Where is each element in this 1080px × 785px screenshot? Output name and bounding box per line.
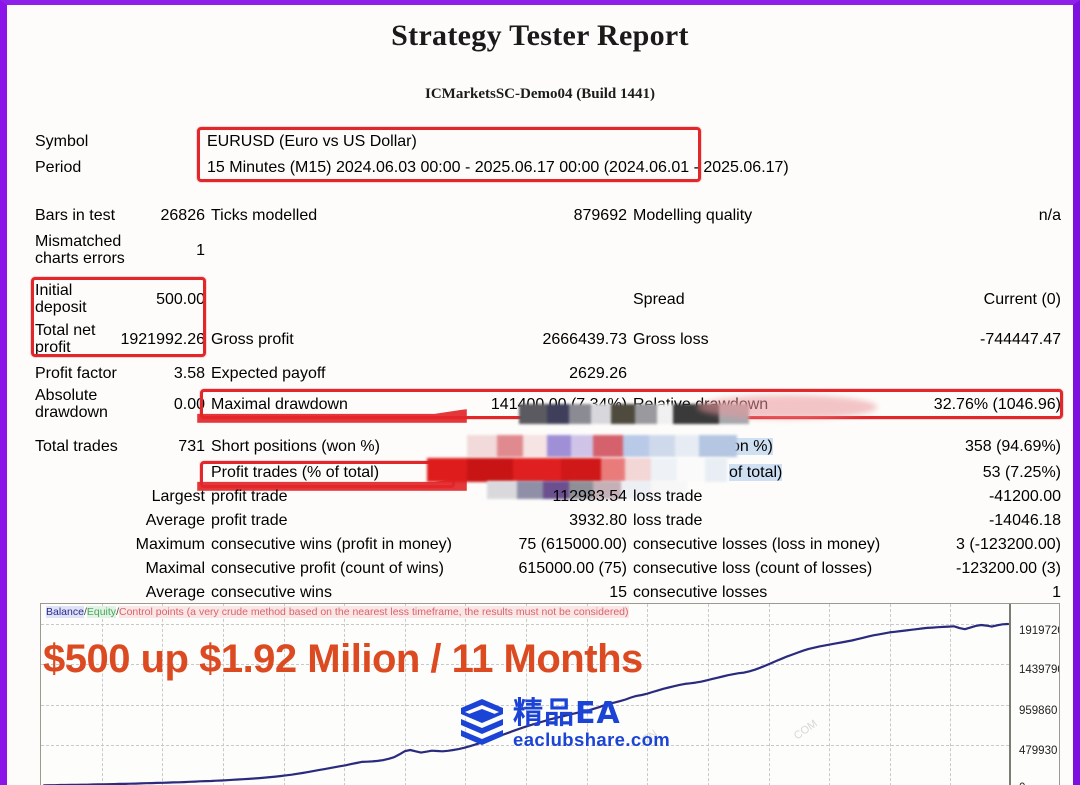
initial-deposit-value: 500.00 — [137, 291, 205, 308]
row-total-trades: Total trades 731 Short positions (won %)… — [7, 438, 1073, 464]
maximal-drawdown-label: Maximal drawdown — [211, 396, 348, 413]
avg-consecutive-losses-value: 1 — [1052, 584, 1061, 601]
y-tick-3: 479930 — [1019, 745, 1057, 757]
initial-deposit-label-line2: deposit — [35, 299, 87, 316]
expected-payoff-value: 2629.26 — [527, 365, 627, 382]
watermark-brand: 精品EA — [513, 699, 670, 729]
largest-profit-label: profit trade — [211, 488, 287, 505]
row-mismatched-charts-errors: Mismatched charts errors 1 — [7, 233, 1073, 275]
row-bars-in-test: Bars in test 26826 Ticks modelled 879692… — [7, 207, 1073, 233]
total-net-profit-value: 1921992.26 — [107, 331, 205, 348]
bars-in-test-label: Bars in test — [35, 207, 115, 224]
total-trades-value: 731 — [137, 438, 205, 455]
legend-control-points: Control points (a very crude method base… — [119, 606, 629, 618]
row-period: Period 15 Minutes (M15) 2024.06.03 00:00… — [7, 159, 1073, 186]
row-drawdown: Absolute drawdown 0.00 Maximal drawdown … — [7, 387, 1073, 429]
symbol-label: Symbol — [35, 133, 88, 150]
relative-drawdown-value: 32.76% (1046.96) — [934, 396, 1061, 413]
row-total-net-profit: Total net profit 1921992.26 Gross profit… — [7, 322, 1073, 364]
profit-trades-label: Profit trades (% of total) — [211, 464, 379, 481]
period-label: Period — [35, 159, 81, 176]
row-symbol: Symbol EURUSD (Euro vs US Dollar) — [7, 133, 1073, 160]
largest-loss-value: -41200.00 — [989, 488, 1061, 505]
long-positions-label: on %) — [731, 438, 773, 455]
largest-label: Largest — [87, 488, 205, 505]
spread-value: Current (0) — [984, 291, 1061, 308]
gross-profit-value: 2666439.73 — [497, 331, 627, 348]
average-loss-label: loss trade — [633, 512, 702, 529]
average-profit-label: profit trade — [211, 512, 287, 529]
maximal-consecutive-loss-value: -123200.00 (3) — [956, 560, 1061, 577]
total-net-profit-label-line1: Total net — [35, 322, 95, 339]
total-net-profit-label-line2: profit — [35, 339, 71, 356]
average-loss-value: -14046.18 — [989, 512, 1061, 529]
relative-drawdown-label: Relative drawdown — [633, 396, 768, 413]
long-positions-value: 358 (94.69%) — [965, 438, 1061, 455]
modelling-quality-value: n/a — [1039, 207, 1061, 224]
largest-loss-label: loss trade — [633, 488, 702, 505]
maximal-consecutive-profit-value: 615000.00 (75) — [477, 560, 627, 577]
maximum-label: Maximum — [87, 536, 205, 553]
short-positions-label: Short positions (won %) — [211, 438, 380, 455]
row-profit-trades: Profit trades (% of total) of total) 53 … — [7, 464, 1073, 490]
ticks-modelled-label: Ticks modelled — [211, 207, 317, 224]
mismatched-label-line1: Mismatched — [35, 233, 121, 250]
watermark: 精品EA eaclubshare.com — [459, 697, 670, 752]
row-largest-trade: Largest profit trade 112983.54 loss trad… — [7, 488, 1073, 514]
max-consecutive-wins-value: 75 (615000.00) — [477, 536, 627, 553]
promo-headline: $500 up $1.92 Milion / 11 Months — [43, 637, 643, 682]
row-initial-deposit: Initial deposit 500.00 Spread Current (0… — [7, 282, 1073, 324]
spread-label: Spread — [633, 291, 685, 308]
chart-plot-area: .CN COM Balance/Equity/Control points (a… — [41, 604, 1011, 785]
legend-balance: Balance — [46, 606, 84, 618]
maximal-consecutive-loss-label: consecutive loss (count of losses) — [633, 560, 872, 577]
modelling-quality-label: Modelling quality — [633, 207, 752, 224]
chart-legend: Balance/Equity/Control points (a very cr… — [46, 607, 629, 618]
page-title: Strategy Tester Report — [7, 19, 1073, 53]
watermark-text: 精品EA eaclubshare.com — [513, 699, 670, 750]
profit-factor-label: Profit factor — [35, 365, 117, 382]
layers-icon-svg — [459, 697, 505, 747]
absolute-drawdown-label-line2: drawdown — [35, 404, 108, 421]
expected-payoff-label: Expected payoff — [211, 365, 325, 382]
average2-label: Average — [87, 584, 205, 601]
watermark-url: eaclubshare.com — [513, 731, 670, 750]
gross-loss-label: Gross loss — [633, 331, 709, 348]
profit-factor-value: 3.58 — [137, 365, 205, 382]
maximal-drawdown-value: 141400.00 (7.34%) — [467, 396, 627, 413]
average-profit-value: 3932.80 — [497, 512, 627, 529]
mismatched-value: 1 — [137, 242, 205, 259]
absolute-drawdown-label-line1: Absolute — [35, 387, 97, 404]
max-consecutive-losses-value: 3 (-123200.00) — [956, 536, 1061, 553]
total-trades-label: Total trades — [35, 438, 118, 455]
ticks-modelled-value: 879692 — [512, 207, 627, 224]
equity-balance-chart: .CN COM Balance/Equity/Control points (a… — [40, 603, 1060, 785]
row-maximum-consecutive: Maximum consecutive wins (profit in mone… — [7, 536, 1073, 562]
absolute-drawdown-value: 0.00 — [137, 396, 205, 413]
loss-trades-value: 53 (7.25%) — [983, 464, 1061, 481]
account-subtitle: ICMarketsSC-Demo04 (Build 1441) — [7, 86, 1073, 103]
largest-profit-value: 112983.54 — [497, 488, 627, 505]
max-consecutive-losses-label: consecutive losses (loss in money) — [633, 536, 880, 553]
bars-in-test-value: 26826 — [137, 207, 205, 224]
gross-loss-value: -744447.47 — [980, 331, 1061, 348]
y-tick-0: 1919720 — [1019, 625, 1060, 637]
y-tick-1: 1439790 — [1019, 664, 1060, 676]
row-average-trade: Average profit trade 3932.80 loss trade … — [7, 512, 1073, 538]
average-label: Average — [87, 512, 205, 529]
report-body: Strategy Tester Report ICMarketsSC-Demo0… — [7, 5, 1073, 785]
avg-consecutive-losses-label: consecutive losses — [633, 584, 767, 601]
maximal-label: Maximal — [87, 560, 205, 577]
avg-consecutive-wins-value: 15 — [527, 584, 627, 601]
maximal-consecutive-profit-label: consecutive profit (count of wins) — [211, 560, 444, 577]
initial-deposit-label-line1: Initial — [35, 282, 72, 299]
chart-y-axis: 1919720 1439790 959860 479930 0 — [1015, 604, 1060, 785]
gross-profit-label: Gross profit — [211, 331, 294, 348]
symbol-value: EURUSD (Euro vs US Dollar) — [207, 133, 417, 150]
period-value: 15 Minutes (M15) 2024.06.03 00:00 - 2025… — [207, 159, 789, 176]
layers-logo-icon — [459, 697, 505, 752]
y-tick-2: 959860 — [1019, 705, 1057, 717]
legend-equity: Equity — [87, 606, 116, 618]
balance-equity-curve — [41, 604, 1011, 785]
avg-consecutive-wins-label: consecutive wins — [211, 584, 332, 601]
loss-trades-label: of total) — [729, 464, 782, 481]
strategy-tester-report-page: Strategy Tester Report ICMarketsSC-Demo0… — [0, 0, 1080, 785]
mismatched-label-line2: charts errors — [35, 250, 125, 267]
max-consecutive-wins-label: consecutive wins (profit in money) — [211, 536, 452, 553]
row-maximal-consecutive: Maximal consecutive profit (count of win… — [7, 560, 1073, 586]
